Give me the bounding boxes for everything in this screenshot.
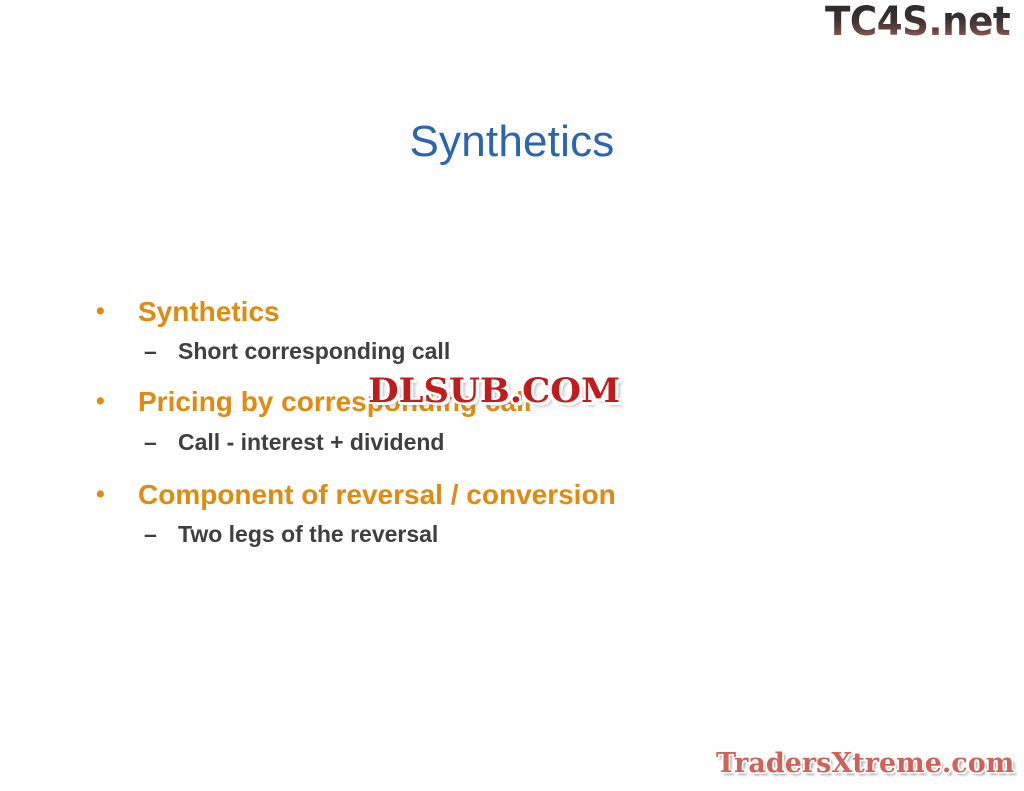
bullet-level2: – Short corresponding call <box>96 336 916 367</box>
bullet-dot-icon: • <box>96 293 138 329</box>
bullet-level1: • Component of reversal / conversion <box>96 476 916 513</box>
bullet-dash-icon: – <box>144 336 178 367</box>
dlsub-watermark: DLSUB.COM <box>368 371 620 411</box>
bullet-group: • Synthetics – Short corresponding call <box>96 293 916 367</box>
bullet-dot-icon: • <box>96 383 138 419</box>
slide-title: Synthetics <box>0 117 1024 168</box>
bullet-level2-label: Short corresponding call <box>178 336 450 367</box>
bullet-level2: – Two legs of the reversal <box>96 519 916 550</box>
presentation-slide: TC4S.net Synthetics • Synthetics – Short… <box>0 0 1024 791</box>
bullet-dot-icon: • <box>96 476 138 512</box>
tradersxtreme-watermark: TradersXtreme.com <box>716 748 1014 779</box>
bullet-level2-label: Call - interest + dividend <box>178 427 444 458</box>
bullet-level1-label: Synthetics <box>138 293 280 330</box>
tc4s-brand-logo: TC4S.net <box>825 2 1010 42</box>
bullet-list: • Synthetics – Short corresponding call … <box>96 293 916 564</box>
bullet-level1-label: Component of reversal / conversion <box>138 476 616 513</box>
bullet-level1: • Synthetics <box>96 293 916 330</box>
bullet-dash-icon: – <box>144 519 178 550</box>
bullet-dash-icon: – <box>144 427 178 458</box>
bullet-group: • Component of reversal / conversion – T… <box>96 476 916 550</box>
bullet-level2: – Call - interest + dividend <box>96 427 916 458</box>
bullet-level2-label: Two legs of the reversal <box>178 519 438 550</box>
